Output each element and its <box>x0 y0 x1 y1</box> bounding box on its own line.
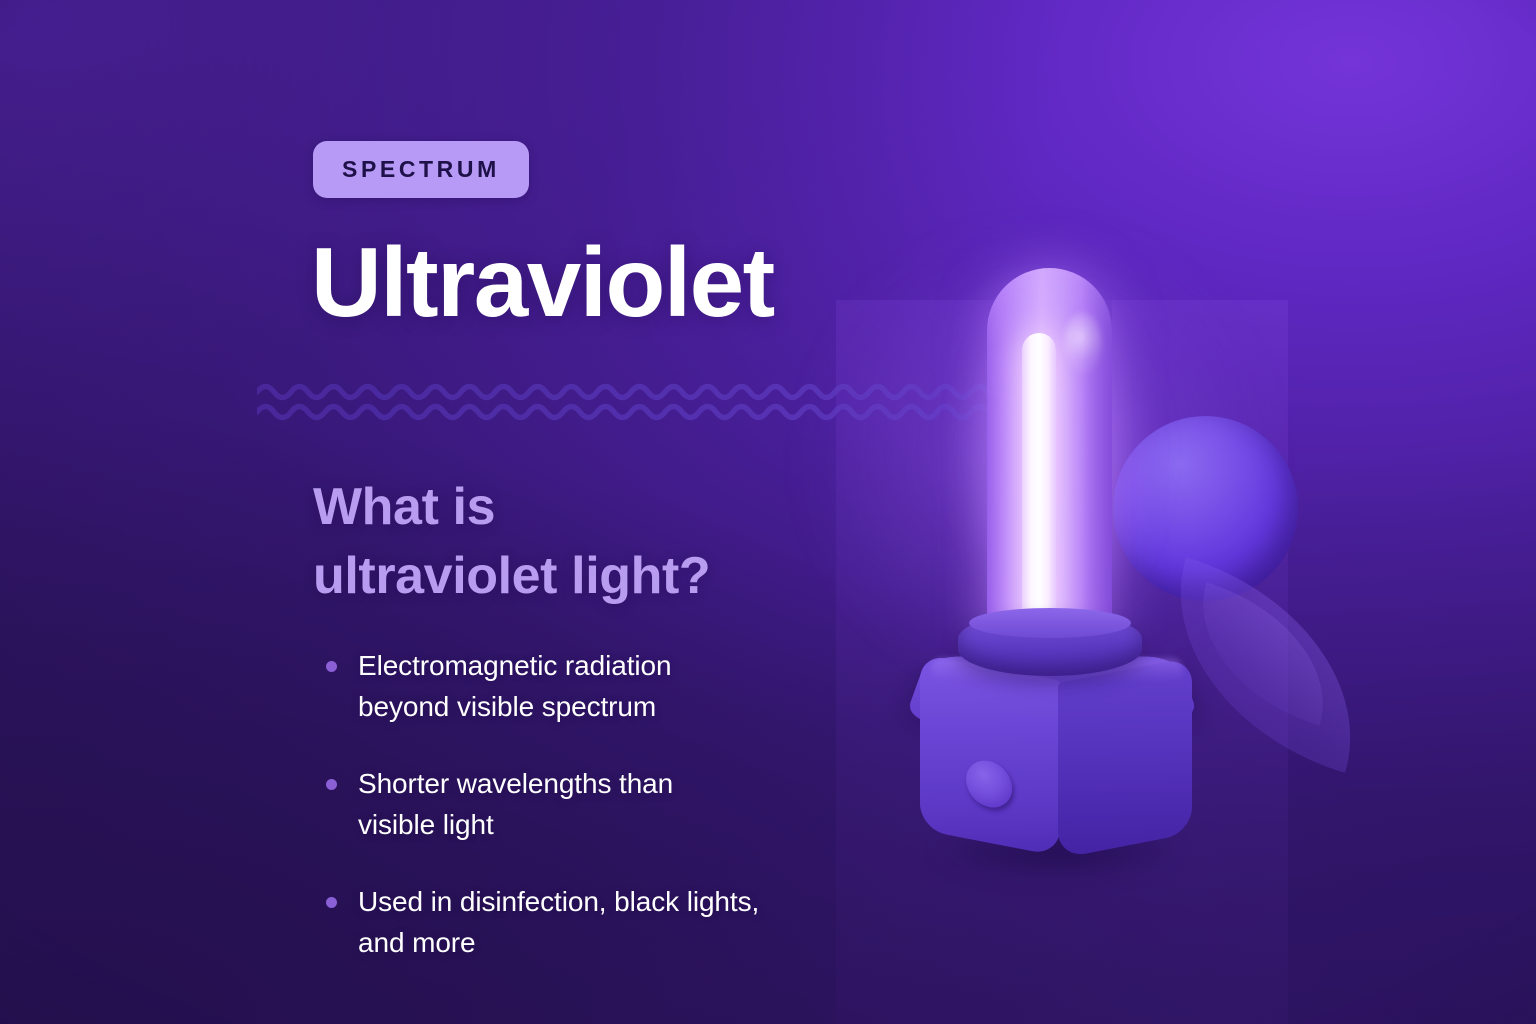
slide-canvas: SPECTRUM Ultraviolet What is ultraviolet… <box>0 0 1536 1024</box>
background-vignette <box>0 0 1536 1024</box>
